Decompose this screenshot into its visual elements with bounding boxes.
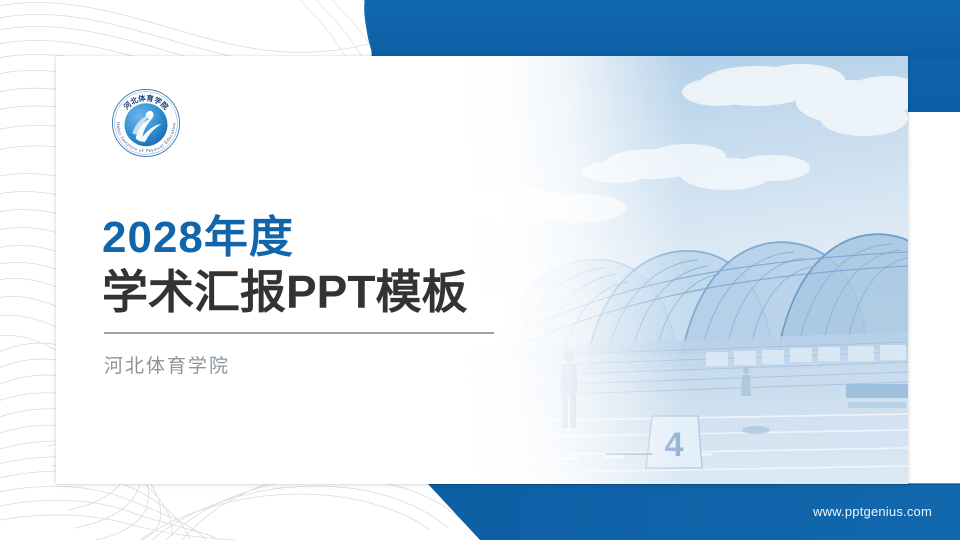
title-block: 2028年度 学术汇报PPT模板 河北体育学院: [102, 216, 494, 378]
university-logo: 河北体育学院 Hebei Institute of Physical Educa…: [103, 80, 189, 166]
content-card: 4: [56, 56, 908, 484]
school-name: 河北体育学院: [104, 351, 494, 378]
footer-url[interactable]: www.pptgenius.com: [813, 504, 932, 519]
stadium-track-photo: 4: [456, 56, 908, 484]
page-title: 学术汇报PPT模板: [102, 267, 494, 319]
title-divider: [104, 332, 494, 334]
presentation-slide: 4: [0, 0, 960, 540]
title-year: 2028年度: [102, 216, 494, 261]
